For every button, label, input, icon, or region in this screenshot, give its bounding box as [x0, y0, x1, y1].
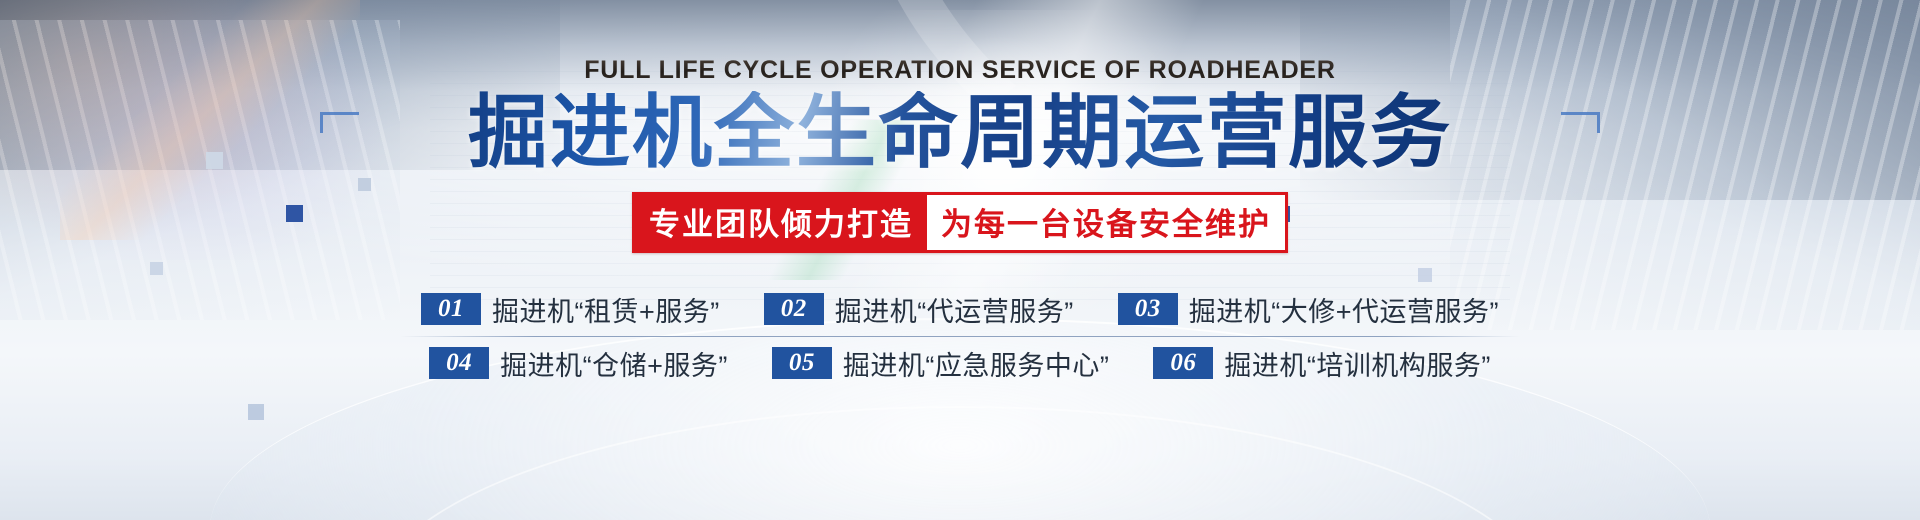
service-item-label: 掘进机“应急服务中心”: [843, 344, 1109, 383]
banner-eyebrow-english: FULL LIFE CYCLE OPERATION SERVICE OF ROA…: [584, 56, 1336, 85]
banner-headline: 掘进机全生命周期运营服务: [468, 91, 1452, 176]
service-item-01[interactable]: 01 掘进机“租赁+服务”: [421, 290, 720, 329]
service-item-03[interactable]: 03 掘进机“大修+代运营服务”: [1118, 290, 1499, 329]
service-item-05[interactable]: 05 掘进机“应急服务中心”: [772, 344, 1109, 383]
service-number-badge: 02: [764, 293, 824, 325]
service-list: 01 掘进机“租赁+服务” 02 掘进机“代运营服务” 03 掘进机“大修+代运…: [400, 283, 1520, 390]
hero-banner: FULL LIFE CYCLE OPERATION SERVICE OF ROA…: [0, 0, 1920, 520]
service-number-badge: 04: [429, 347, 489, 379]
service-number-badge: 05: [772, 347, 832, 379]
service-number-badge: 03: [1118, 293, 1178, 325]
service-number-badge: 06: [1153, 347, 1213, 379]
service-item-06[interactable]: 06 掘进机“培训机构服务”: [1153, 344, 1490, 383]
service-row-2: 04 掘进机“仓储+服务” 05 掘进机“应急服务中心” 06 掘进机“培训机构…: [429, 337, 1491, 390]
tagline-left: 专业团队倾力打造: [635, 195, 927, 250]
service-item-label: 掘进机“租赁+服务”: [492, 290, 720, 329]
service-number-badge: 01: [421, 293, 481, 325]
service-item-04[interactable]: 04 掘进机“仓储+服务”: [429, 344, 728, 383]
tagline-right: 为每一台设备安全维护: [927, 195, 1285, 250]
service-item-label: 掘进机“大修+代运营服务”: [1189, 290, 1499, 329]
service-item-label: 掘进机“培训机构服务”: [1224, 344, 1490, 383]
service-item-label: 掘进机“代运营服务”: [835, 290, 1074, 329]
banner-content: FULL LIFE CYCLE OPERATION SERVICE OF ROA…: [0, 0, 1920, 520]
tagline-bar: 专业团队倾力打造 为每一台设备安全维护: [632, 192, 1288, 253]
service-item-label: 掘进机“仓储+服务”: [500, 344, 728, 383]
service-row-1: 01 掘进机“租赁+服务” 02 掘进机“代运营服务” 03 掘进机“大修+代运…: [421, 283, 1499, 336]
service-item-02[interactable]: 02 掘进机“代运营服务”: [764, 290, 1074, 329]
